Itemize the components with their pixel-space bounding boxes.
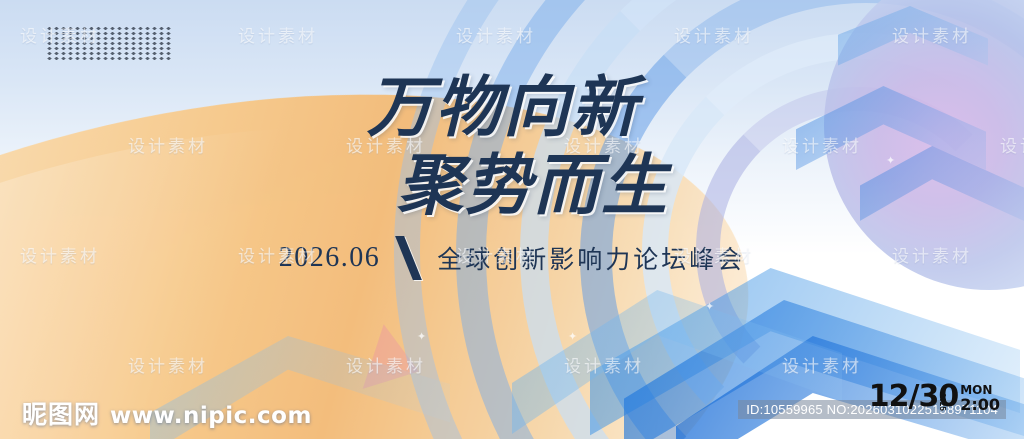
- subtitle-row: 2026.06 全球创新影响力论坛峰会: [0, 236, 1024, 280]
- sparkle-icon-2: ✦: [568, 330, 577, 343]
- nipic-brand-url: www.nipic.com: [110, 403, 312, 429]
- event-date: 2026.06: [279, 242, 381, 274]
- nipic-brand-cn: 昵图网: [22, 395, 100, 431]
- event-subtitle: 全球创新影响力论坛峰会: [437, 240, 745, 276]
- halftone-dot-grid: [46, 26, 172, 60]
- clock-date: 12/30: [869, 383, 958, 411]
- sparkle-icon-3: ✦: [705, 300, 714, 313]
- clock-widget: 12/30 MON 2:00: [869, 383, 1000, 413]
- nipic-watermark: 昵图网 www.nipic.com: [22, 395, 312, 431]
- sparkle-icon-1: ✦: [417, 330, 426, 343]
- poster-canvas: ✦ ✦ ✦ ✦ 万物向新 聚势而生 2026.06 全球创新影响力论坛峰会 设计…: [0, 0, 1024, 439]
- clock-time: 2:00: [960, 397, 1000, 413]
- slash-divider-icon: [395, 236, 422, 280]
- clock-right-group: MON 2:00: [960, 384, 1000, 413]
- sparkle-icon-4: ✦: [886, 154, 895, 167]
